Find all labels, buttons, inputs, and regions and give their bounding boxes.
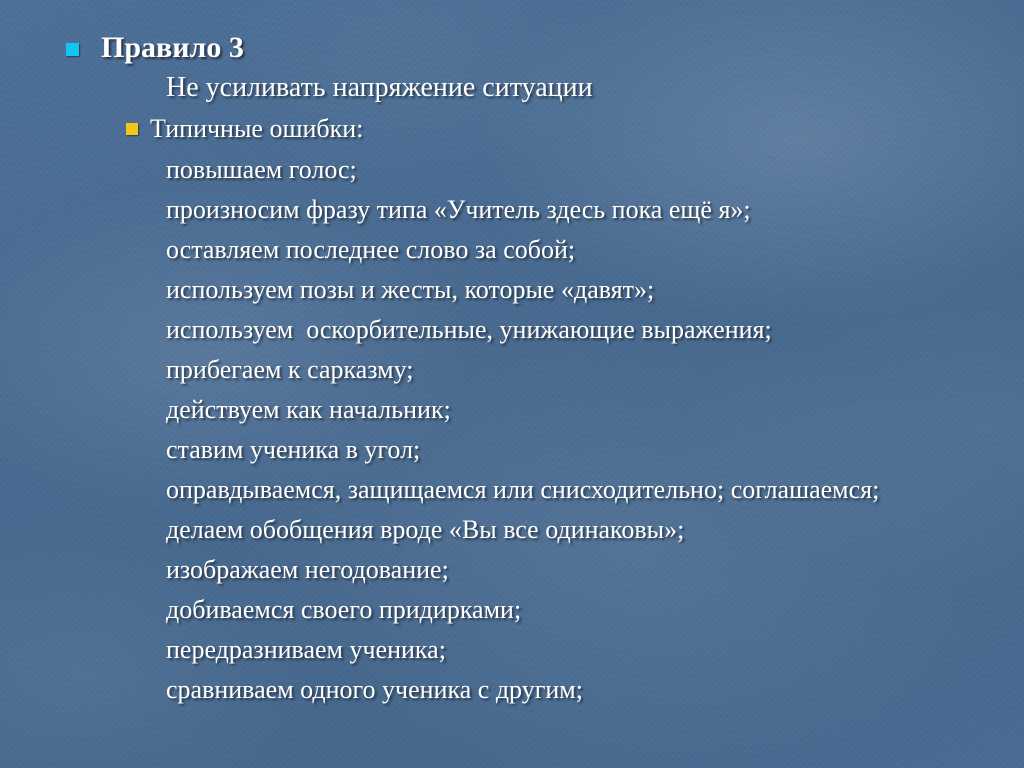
section-label: Типичные ошибки:: [150, 110, 363, 148]
section-label-row: Типичные ошибки:: [126, 110, 986, 148]
list-item: произносим фразу типа «Учитель здесь пок…: [166, 190, 1018, 230]
mistakes-list: повышаем голос; произносим фразу типа «У…: [166, 150, 1018, 710]
slide-content: Правило 3 Не усиливать напряжение ситуац…: [0, 0, 1024, 768]
list-item: ставим ученика в угол;: [166, 430, 1018, 470]
list-item: оставляем последнее слово за собой;: [166, 230, 1018, 270]
page-title: Правило 3: [101, 28, 244, 68]
list-item: изображаем негодование;: [166, 550, 1018, 590]
list-item: добиваемся своего придирками;: [166, 590, 1018, 630]
page-subtitle: Не усиливать напряжение ситуации: [166, 68, 593, 108]
list-item: действуем как начальник;: [166, 390, 1018, 430]
list-item: оправдываемся, защищаемся или снисходите…: [166, 470, 1018, 510]
list-item: прибегаем к сарказму;: [166, 350, 1018, 390]
rule-subtitle-row: Не усиливать напряжение ситуации: [166, 68, 1006, 108]
slide: Правило 3 Не усиливать напряжение ситуац…: [0, 0, 1024, 768]
list-item: сравниваем одного ученика с другим;: [166, 670, 1018, 710]
square-bullet-icon-cyan: [66, 43, 79, 56]
square-bullet-icon-yellow: [126, 123, 138, 135]
list-item: используем оскорбительные, унижающие выр…: [166, 310, 1018, 350]
list-item: делаем обобщения вроде «Вы все одинаковы…: [166, 510, 1018, 550]
list-item: используем позы и жесты, которые «давят»…: [166, 270, 1018, 310]
rule-heading-row: Правило 3: [66, 28, 966, 68]
list-item: повышаем голос;: [166, 150, 1018, 190]
list-item: передразниваем ученика;: [166, 630, 1018, 670]
